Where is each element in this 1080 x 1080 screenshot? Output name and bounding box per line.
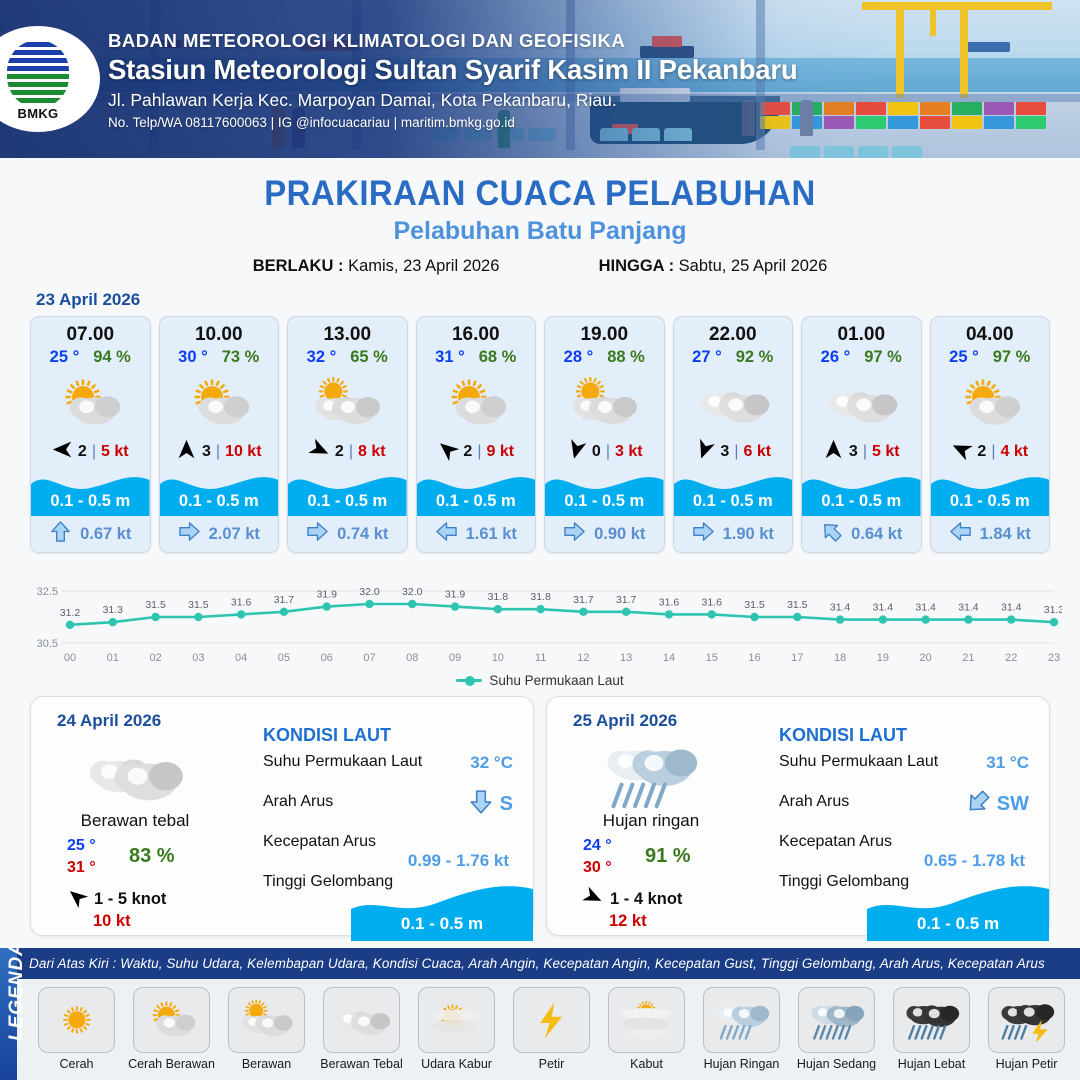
legend-label: Suhu Permukaan Laut bbox=[489, 673, 623, 688]
legend-item: Hujan Ringan bbox=[698, 987, 785, 1071]
svg-text:06: 06 bbox=[321, 652, 333, 664]
daily-humidity: 91 % bbox=[645, 845, 691, 868]
card-wave: 0.1 - 0.5 m bbox=[545, 468, 664, 516]
wind-direction-icon bbox=[694, 439, 715, 465]
petir-icon bbox=[513, 987, 590, 1053]
card-wave: 0.1 - 0.5 m bbox=[674, 468, 793, 516]
card-current-speed: 1.90 kt bbox=[723, 525, 774, 544]
current-direction-icon bbox=[820, 520, 843, 548]
hourly-card: 22.00 27 ° 92 % 3 | 6 kt 0.1 - 0.5 m bbox=[673, 316, 794, 553]
card-humidity: 97 % bbox=[864, 348, 902, 367]
current-direction-icon bbox=[306, 520, 329, 548]
card-wind: 2 | 4 kt bbox=[931, 436, 1050, 468]
card-humidity: 73 % bbox=[222, 348, 260, 367]
card-wind-degree: 2 bbox=[463, 443, 472, 461]
card-current: 0.90 kt bbox=[545, 516, 664, 552]
card-wind: 2 | 5 kt bbox=[31, 436, 150, 468]
hourly-card: 13.00 32 ° 65 % 2 | 8 kt 0.1 - 0.5 m bbox=[287, 316, 408, 553]
card-wave-height: 0.1 - 0.5 m bbox=[931, 492, 1050, 511]
svg-text:00: 00 bbox=[64, 652, 76, 664]
legend-items: Cerah Cerah Berawan Berawan bbox=[17, 979, 1080, 1071]
card-wave: 0.1 - 0.5 m bbox=[931, 468, 1050, 516]
sst-value: 32 °C bbox=[470, 753, 513, 773]
card-time: 10.00 bbox=[160, 317, 279, 348]
station-address: Jl. Pahlawan Kerja Kec. Marpoyan Damai, … bbox=[108, 90, 798, 111]
daily-wind: 1 - 4 knot bbox=[583, 887, 682, 912]
card-wave-height: 0.1 - 0.5 m bbox=[802, 492, 921, 511]
svg-text:01: 01 bbox=[107, 652, 119, 664]
card-time: 01.00 bbox=[802, 317, 921, 348]
daily-condition: Hujan ringan bbox=[547, 811, 755, 831]
svg-text:31.2: 31.2 bbox=[60, 607, 81, 619]
legend-item-label: Hujan Lebat bbox=[888, 1057, 975, 1071]
svg-text:31.6: 31.6 bbox=[231, 596, 252, 608]
daily-temp-min: 24 ° bbox=[583, 837, 612, 855]
sea-condition-title: KONDISI LAUT bbox=[263, 725, 391, 746]
legend-item-label: Udara Kabur bbox=[413, 1057, 500, 1071]
card-time: 19.00 bbox=[545, 317, 664, 348]
legend-item-label: Hujan Petir bbox=[983, 1057, 1070, 1071]
logo-text: BMKG bbox=[7, 106, 69, 121]
berawan-tebal-icon bbox=[79, 737, 189, 811]
card-current: 1.84 kt bbox=[931, 516, 1050, 552]
hujan-ringan-icon bbox=[703, 987, 780, 1053]
hingga-value: Sabtu, 25 April 2026 bbox=[679, 257, 828, 275]
svg-text:17: 17 bbox=[791, 652, 803, 664]
daily-wave-block: 0.1 - 0.5 m bbox=[867, 883, 1049, 941]
card-humidity: 65 % bbox=[350, 348, 388, 367]
svg-text:23: 23 bbox=[1048, 652, 1060, 664]
card-current-speed: 0.90 kt bbox=[594, 525, 645, 544]
legend-item: Cerah Berawan bbox=[128, 987, 215, 1071]
svg-text:31.8: 31.8 bbox=[488, 591, 509, 603]
legend-item-label: Cerah bbox=[33, 1057, 120, 1071]
svg-text:31.4: 31.4 bbox=[915, 602, 936, 614]
card-wind: 3 | 5 kt bbox=[802, 436, 921, 468]
svg-text:31.5: 31.5 bbox=[787, 599, 808, 611]
legend-item: Hujan Petir bbox=[983, 987, 1070, 1071]
svg-text:31.7: 31.7 bbox=[573, 594, 594, 606]
hingga-label: HINGGA : bbox=[599, 257, 674, 275]
card-current-speed: 1.61 kt bbox=[466, 525, 517, 544]
current-direction-icon bbox=[692, 520, 715, 548]
svg-text:19: 19 bbox=[877, 652, 889, 664]
logo-dome-icon bbox=[7, 40, 69, 78]
wind-direction-icon bbox=[67, 887, 87, 912]
legend-item-label: Berawan bbox=[223, 1057, 310, 1071]
page-title: PRAKIRAAN CUACA PELABUHAN bbox=[32, 174, 1047, 214]
daily-card: 24 April 2026 Berawan tebal 25 ° 31 ° 83… bbox=[30, 696, 534, 936]
legend-item: Berawan Tebal bbox=[318, 987, 405, 1071]
svg-text:02: 02 bbox=[149, 652, 161, 664]
legend-item: Udara Kabur bbox=[413, 987, 500, 1071]
page-subtitle: Pelabuhan Batu Panjang bbox=[0, 217, 1080, 246]
svg-text:31.4: 31.4 bbox=[1001, 602, 1022, 614]
card-humidity: 97 % bbox=[993, 348, 1031, 367]
legend-section: LEGENDA Dari Atas Kiri : Waktu, Suhu Uda… bbox=[0, 948, 1080, 1080]
svg-text:18: 18 bbox=[834, 652, 846, 664]
daily-date: 25 April 2026 bbox=[573, 711, 677, 731]
wind-direction-icon bbox=[566, 439, 587, 465]
svg-text:31.6: 31.6 bbox=[702, 596, 723, 608]
card-temperature: 25 ° bbox=[949, 348, 979, 367]
legend-item: Hujan Sedang bbox=[793, 987, 880, 1071]
card-wind-degree: 2 bbox=[977, 443, 986, 461]
card-temperature: 30 ° bbox=[178, 348, 208, 367]
svg-text:32.0: 32.0 bbox=[359, 586, 380, 598]
daily-card: 25 April 2026 Hujan ringan 24 ° 30 ° 91 … bbox=[546, 696, 1050, 936]
wind-direction-icon bbox=[437, 439, 458, 465]
legend-item: Cerah bbox=[33, 987, 120, 1071]
udara-kabur-icon bbox=[418, 987, 495, 1053]
svg-text:31.4: 31.4 bbox=[830, 602, 851, 614]
wind-direction-icon bbox=[52, 439, 73, 465]
current-speed-value: 0.99 - 1.76 kt bbox=[408, 851, 509, 871]
logo-base-icon bbox=[7, 74, 69, 108]
kabut-icon bbox=[608, 987, 685, 1053]
card-current: 0.74 kt bbox=[288, 516, 407, 552]
card-wind-degree: 3 bbox=[849, 443, 858, 461]
card-current-speed: 2.07 kt bbox=[209, 525, 260, 544]
cerah-berawan-icon bbox=[31, 370, 150, 436]
daily-wave-block: 0.1 - 0.5 m bbox=[351, 883, 533, 941]
card-humidity: 88 % bbox=[607, 348, 645, 367]
svg-text:31.7: 31.7 bbox=[616, 594, 637, 606]
station-contact: No. Telp/WA 08117600063 | IG @infocuacar… bbox=[108, 115, 798, 130]
berawan-tebal-icon bbox=[323, 987, 400, 1053]
hujan-ringan-icon bbox=[595, 737, 705, 811]
current-direction-icon bbox=[949, 520, 972, 548]
card-wind-speed: 3 kt bbox=[615, 443, 643, 461]
legend-sidebar: LEGENDA bbox=[0, 948, 17, 1080]
berlaku-value: Kamis, 23 April 2026 bbox=[348, 257, 499, 275]
current-direction-value: S bbox=[500, 793, 513, 816]
legend-item: Petir bbox=[508, 987, 595, 1071]
svg-text:04: 04 bbox=[235, 652, 247, 664]
berawan-icon bbox=[228, 987, 305, 1053]
card-wind-degree: 2 bbox=[78, 443, 87, 461]
sst-chart: 32.530.531.20031.30131.50231.50331.60431… bbox=[18, 569, 1062, 669]
hourly-card: 19.00 28 ° 88 % 0 | 3 kt 0.1 - 0.5 m bbox=[544, 316, 665, 553]
wind-direction-icon bbox=[176, 439, 197, 465]
card-wind: 2 | 8 kt bbox=[288, 436, 407, 468]
sst-label: Suhu Permukaan Laut bbox=[779, 753, 938, 770]
card-wave-height: 0.1 - 0.5 m bbox=[417, 492, 536, 511]
card-wind-degree: 3 bbox=[720, 443, 729, 461]
berawan-tebal-icon bbox=[674, 370, 793, 436]
card-wave: 0.1 - 0.5 m bbox=[417, 468, 536, 516]
card-time: 22.00 bbox=[674, 317, 793, 348]
daily-humidity: 83 % bbox=[129, 845, 175, 868]
card-wind-speed: 5 kt bbox=[872, 443, 900, 461]
berawan-icon bbox=[288, 370, 407, 436]
station-name: Stasiun Meteorologi Sultan Syarif Kasim … bbox=[108, 54, 798, 86]
daily-gust: 12 kt bbox=[609, 912, 647, 931]
current-direction-icon bbox=[435, 520, 458, 548]
card-current-speed: 0.64 kt bbox=[851, 525, 902, 544]
svg-text:16: 16 bbox=[748, 652, 760, 664]
daily-condition: Berawan tebal bbox=[31, 811, 239, 831]
current-speed-value: 0.65 - 1.78 kt bbox=[924, 851, 1025, 871]
hourly-card: 16.00 31 ° 68 % 2 | 9 kt 0.1 - 0.5 m 1.6… bbox=[416, 316, 537, 553]
svg-text:31.6: 31.6 bbox=[659, 596, 680, 608]
svg-text:09: 09 bbox=[449, 652, 461, 664]
svg-text:13: 13 bbox=[620, 652, 632, 664]
sea-row-current-dir: Arah Arus S bbox=[263, 793, 519, 833]
svg-text:31.4: 31.4 bbox=[873, 602, 894, 614]
card-wind: 0 | 3 kt bbox=[545, 436, 664, 468]
page-header: BMKG BADAN METEOROLOGI KLIMATOLOGI DAN G… bbox=[0, 0, 1080, 158]
svg-text:15: 15 bbox=[706, 652, 718, 664]
svg-text:12: 12 bbox=[577, 652, 589, 664]
legend-marker-icon bbox=[456, 679, 482, 682]
card-wave-height: 0.1 - 0.5 m bbox=[160, 492, 279, 511]
current-direction-icon bbox=[468, 789, 494, 820]
daily-forecast-row: 24 April 2026 Berawan tebal 25 ° 31 ° 83… bbox=[0, 688, 1080, 936]
svg-text:11: 11 bbox=[535, 652, 546, 664]
card-humidity: 94 % bbox=[93, 348, 131, 367]
sea-row-sst: Suhu Permukaan Laut 31 °C bbox=[779, 753, 1035, 793]
sea-row-current-speed: Kecepatan Arus 0.99 - 1.76 kt bbox=[263, 833, 519, 873]
hourly-card: 04.00 25 ° 97 % 2 | 4 kt 0.1 - 0.5 m 1.8… bbox=[930, 316, 1051, 553]
card-current: 2.07 kt bbox=[160, 516, 279, 552]
legend-item-label: Berawan Tebal bbox=[318, 1057, 405, 1071]
card-wave: 0.1 - 0.5 m bbox=[288, 468, 407, 516]
card-time: 13.00 bbox=[288, 317, 407, 348]
current-speed-label: Kecepatan Arus bbox=[779, 833, 892, 850]
daily-wind: 1 - 5 knot bbox=[67, 887, 166, 912]
daily-temp-min: 25 ° bbox=[67, 837, 96, 855]
validity-line: BERLAKU : Kamis, 23 April 2026 HINGGA : … bbox=[0, 257, 1080, 276]
hujan-lebat-icon bbox=[893, 987, 970, 1053]
legend-item: Hujan Lebat bbox=[888, 987, 975, 1071]
svg-text:14: 14 bbox=[663, 652, 675, 664]
legend-item-label: Cerah Berawan bbox=[128, 1057, 215, 1071]
card-wind-degree: 0 bbox=[592, 443, 601, 461]
card-temperature: 31 ° bbox=[435, 348, 465, 367]
card-current: 1.61 kt bbox=[417, 516, 536, 552]
card-wave-height: 0.1 - 0.5 m bbox=[674, 492, 793, 511]
card-time: 07.00 bbox=[31, 317, 150, 348]
current-direction-value: SW bbox=[997, 793, 1029, 816]
current-direction-label: Arah Arus bbox=[779, 793, 849, 810]
card-wind-speed: 8 kt bbox=[358, 443, 386, 461]
card-wind-degree: 2 bbox=[335, 443, 344, 461]
svg-text:31.8: 31.8 bbox=[530, 591, 551, 603]
daily-date: 24 April 2026 bbox=[57, 711, 161, 731]
card-temperature: 28 ° bbox=[564, 348, 594, 367]
svg-text:31.9: 31.9 bbox=[445, 589, 466, 601]
cerah-berawan-icon bbox=[931, 370, 1050, 436]
card-current: 0.64 kt bbox=[802, 516, 921, 552]
sst-value: 31 °C bbox=[986, 753, 1029, 773]
svg-text:10: 10 bbox=[492, 652, 504, 664]
card-current-speed: 0.67 kt bbox=[80, 525, 131, 544]
card-wind-speed: 6 kt bbox=[743, 443, 771, 461]
current-direction-label: Arah Arus bbox=[263, 793, 333, 810]
svg-text:30.5: 30.5 bbox=[37, 638, 58, 650]
hourly-card: 07.00 25 ° 94 % 2 | 5 kt 0.1 - 0.5 m 0.6… bbox=[30, 316, 151, 553]
svg-text:31.7: 31.7 bbox=[274, 594, 295, 606]
svg-text:31.3: 31.3 bbox=[1044, 604, 1062, 616]
sea-row-current-speed: Kecepatan Arus 0.65 - 1.78 kt bbox=[779, 833, 1035, 873]
sea-condition-title: KONDISI LAUT bbox=[779, 725, 907, 746]
wind-direction-icon bbox=[823, 439, 844, 465]
card-wave-height: 0.1 - 0.5 m bbox=[288, 492, 407, 511]
card-wind: 3 | 10 kt bbox=[160, 436, 279, 468]
card-wave: 0.1 - 0.5 m bbox=[802, 468, 921, 516]
legend-item-label: Petir bbox=[508, 1057, 595, 1071]
card-wind-speed: 10 kt bbox=[225, 443, 261, 461]
svg-text:31.3: 31.3 bbox=[103, 604, 124, 616]
card-temperature: 32 ° bbox=[307, 348, 337, 367]
svg-text:32.5: 32.5 bbox=[37, 586, 58, 598]
legend-item-label: Hujan Sedang bbox=[793, 1057, 880, 1071]
svg-text:03: 03 bbox=[192, 652, 204, 664]
svg-text:31.5: 31.5 bbox=[145, 599, 166, 611]
agency-name: BADAN METEOROLOGI KLIMATOLOGI DAN GEOFIS… bbox=[108, 30, 798, 52]
berawan-tebal-icon bbox=[802, 370, 921, 436]
card-wave-height: 0.1 - 0.5 m bbox=[545, 492, 664, 511]
current-direction-icon bbox=[563, 520, 586, 548]
card-current: 1.90 kt bbox=[674, 516, 793, 552]
hourly-card: 10.00 30 ° 73 % 3 | 10 kt 0.1 - 0.5 m 2.… bbox=[159, 316, 280, 553]
chart-legend: Suhu Permukaan Laut bbox=[0, 673, 1080, 688]
card-wind-speed: 5 kt bbox=[101, 443, 129, 461]
card-current: 0.67 kt bbox=[31, 516, 150, 552]
current-direction-icon bbox=[965, 789, 991, 820]
sst-label: Suhu Permukaan Laut bbox=[263, 753, 422, 770]
current-direction-icon bbox=[178, 520, 201, 548]
card-wind-speed: 4 kt bbox=[1000, 443, 1028, 461]
legend-item-label: Hujan Ringan bbox=[698, 1057, 785, 1071]
hujan-petir-icon bbox=[988, 987, 1065, 1053]
svg-text:32.0: 32.0 bbox=[402, 586, 423, 598]
berawan-icon bbox=[545, 370, 664, 436]
cerah-berawan-icon bbox=[417, 370, 536, 436]
card-temperature: 25 ° bbox=[50, 348, 80, 367]
daily-temp-max: 31 ° bbox=[67, 859, 96, 877]
card-wind-speed: 9 kt bbox=[486, 443, 514, 461]
berlaku-label: BERLAKU : bbox=[253, 257, 344, 275]
svg-text:20: 20 bbox=[920, 652, 932, 664]
card-temperature: 26 ° bbox=[821, 348, 851, 367]
daily-wave-height: 0.1 - 0.5 m bbox=[867, 914, 1049, 934]
cerah-berawan-icon bbox=[133, 987, 210, 1053]
card-wind-degree: 3 bbox=[202, 443, 211, 461]
card-current-speed: 1.84 kt bbox=[980, 525, 1031, 544]
svg-text:05: 05 bbox=[278, 652, 290, 664]
card-wave: 0.1 - 0.5 m bbox=[160, 468, 279, 516]
hourly-card: 01.00 26 ° 97 % 3 | 5 kt 0.1 - 0.5 m bbox=[801, 316, 922, 553]
svg-text:08: 08 bbox=[406, 652, 418, 664]
card-wind: 3 | 6 kt bbox=[674, 436, 793, 468]
wind-direction-icon bbox=[583, 887, 603, 912]
hujan-sedang-icon bbox=[798, 987, 875, 1053]
cerah-berawan-icon bbox=[160, 370, 279, 436]
card-time: 16.00 bbox=[417, 317, 536, 348]
daily-wind-range: 1 - 5 knot bbox=[94, 890, 166, 909]
svg-text:21: 21 bbox=[962, 652, 974, 664]
sea-row-current-dir: Arah Arus SW bbox=[779, 793, 1035, 833]
page-title-block: PRAKIRAAN CUACA PELABUHAN Pelabuhan Batu… bbox=[0, 174, 1080, 276]
card-wave: 0.1 - 0.5 m bbox=[31, 468, 150, 516]
svg-text:31.4: 31.4 bbox=[958, 602, 979, 614]
current-speed-label: Kecepatan Arus bbox=[263, 833, 376, 850]
card-temperature: 27 ° bbox=[692, 348, 722, 367]
card-humidity: 92 % bbox=[736, 348, 774, 367]
legend-side-label: LEGENDA bbox=[6, 949, 28, 1041]
legend-item: Kabut bbox=[603, 987, 690, 1071]
card-current-speed: 0.74 kt bbox=[337, 525, 388, 544]
legend-note: Dari Atas Kiri : Waktu, Suhu Udara, Kele… bbox=[17, 948, 1080, 979]
legend-item-label: Kabut bbox=[603, 1057, 690, 1071]
cerah-icon bbox=[38, 987, 115, 1053]
hourly-forecast-row: 07.00 25 ° 94 % 2 | 5 kt 0.1 - 0.5 m 0.6… bbox=[0, 316, 1080, 553]
daily-gust: 10 kt bbox=[93, 912, 131, 931]
daily-temp-max: 30 ° bbox=[583, 859, 612, 877]
svg-text:22: 22 bbox=[1005, 652, 1017, 664]
svg-text:31.9: 31.9 bbox=[316, 589, 337, 601]
card-time: 04.00 bbox=[931, 317, 1050, 348]
daily-wind-range: 1 - 4 knot bbox=[610, 890, 682, 909]
card-humidity: 68 % bbox=[479, 348, 517, 367]
wind-direction-icon bbox=[951, 439, 972, 465]
svg-text:07: 07 bbox=[363, 652, 375, 664]
daily-wave-height: 0.1 - 0.5 m bbox=[351, 914, 533, 934]
svg-text:31.5: 31.5 bbox=[744, 599, 765, 611]
card-wind: 2 | 9 kt bbox=[417, 436, 536, 468]
legend-item: Berawan bbox=[223, 987, 310, 1071]
svg-text:31.5: 31.5 bbox=[188, 599, 209, 611]
hourly-date-label: 23 April 2026 bbox=[36, 290, 1080, 310]
sea-row-sst: Suhu Permukaan Laut 32 °C bbox=[263, 753, 519, 793]
card-wave-height: 0.1 - 0.5 m bbox=[31, 492, 150, 511]
current-direction-icon bbox=[49, 520, 72, 548]
wind-direction-icon bbox=[309, 439, 330, 465]
